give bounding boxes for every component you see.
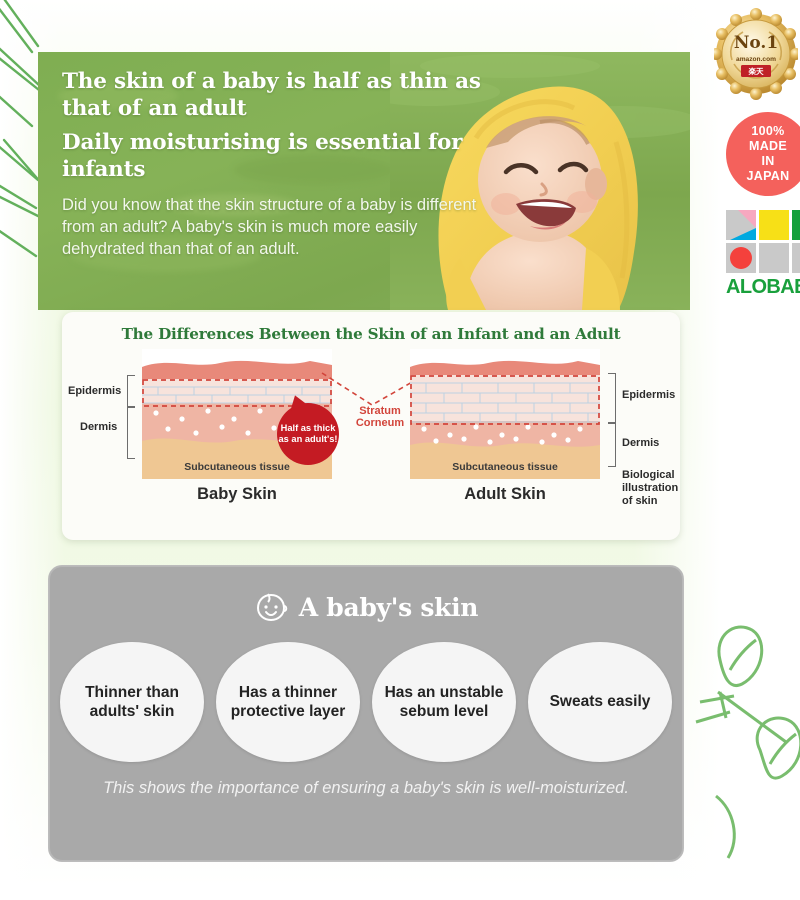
label-right-dermis: Dermis [622,437,659,449]
bracket-right-dermis [608,423,616,467]
hero-text-block: The skin of a baby is half as thin as th… [62,68,492,261]
made-in-japan-badge: 100% MADE IN JAPAN [726,112,800,196]
medal-rank-text: No.1 [734,33,778,53]
medal-rakuten-text: 楽天 [748,66,764,76]
bubble-item: Has a thinner protective layer [216,642,360,762]
label-left-dermis: Dermis [80,421,117,433]
japan-badge-line-2: MADE [749,139,787,154]
logo-tile-gray-1 [759,243,789,273]
diagram-body: Epidermis Dermis [62,343,680,523]
biological-illustration-note: Biological illustration of skin [622,469,678,508]
japan-badge-line-4: JAPAN [747,169,790,184]
red-circle-tile-icon [726,243,756,273]
no1-ranking-medal: No.1 amazon.com 楽天 [714,8,798,100]
logo-tile-triangles [726,210,756,240]
logo-tile-red-circle [726,243,756,273]
adult-skin-illustration: Subcutaneous tissue [410,349,600,479]
panel-footer-note: This shows the importance of ensuring a … [49,778,683,799]
infographic-page: The skin of a baby is half as thin as th… [0,0,800,900]
logo-tile-green [792,210,800,240]
bubble-item: Thinner than adults' skin [60,642,204,762]
label-left-epidermis: Epidermis [68,385,121,397]
hero-headline-2: Daily moisturising is essential for infa… [62,129,492,183]
hero-banner: The skin of a baby is half as thin as th… [38,52,690,310]
logo-tile-grid [726,210,800,273]
bubble-item: Has an unstable sebum level [372,642,516,762]
logo-wordmark: ALOBABY [726,276,800,299]
alobaby-logo: ALOBABY [726,210,800,299]
bubble-list: Thinner than adults' skin Has a thinner … [49,642,683,762]
japan-badge-line-1: 100% [751,124,784,139]
label-right-epidermis: Epidermis [622,389,675,401]
logo-tile-gray-2 [792,243,800,273]
callout-text: Half as thick as an adult's! [277,423,339,445]
diagram-title: The Differences Between the Skin of an I… [62,325,680,343]
panel-title: A baby's skin [299,593,478,622]
logo-tile-yellow [759,210,789,240]
bracket-left-epidermis [127,375,135,407]
japan-badge-line-3: IN [761,154,774,169]
triangle-tile-icon [726,210,756,240]
hero-body-text: Did you know that the skin structure of … [62,195,492,261]
bubble-item: Sweats easily [528,642,672,762]
baby-skin-caption: Baby Skin [142,485,332,504]
adult-subcutaneous-label: Subcutaneous tissue [410,461,600,473]
medal-marketplace-text: amazon.com [736,56,776,63]
hero-headline-1: The skin of a baby is half as thin as th… [62,68,492,122]
half-as-thick-callout: Half as thick as an adult's! [277,403,339,465]
adult-skin-svg [410,349,600,479]
adult-skin-caption: Adult Skin [410,485,600,504]
skin-diagram-card: The Differences Between the Skin of an I… [62,312,680,540]
bracket-right-epidermis [608,373,616,423]
bracket-left-dermis [127,407,135,459]
panel-header: A baby's skin [49,590,683,624]
baby-face-icon [254,590,288,624]
baby-skin-summary-panel: A baby's skin Thinner than adults' skin … [48,565,684,862]
stratum-corneum-label: Stratum Corneum [338,405,422,430]
